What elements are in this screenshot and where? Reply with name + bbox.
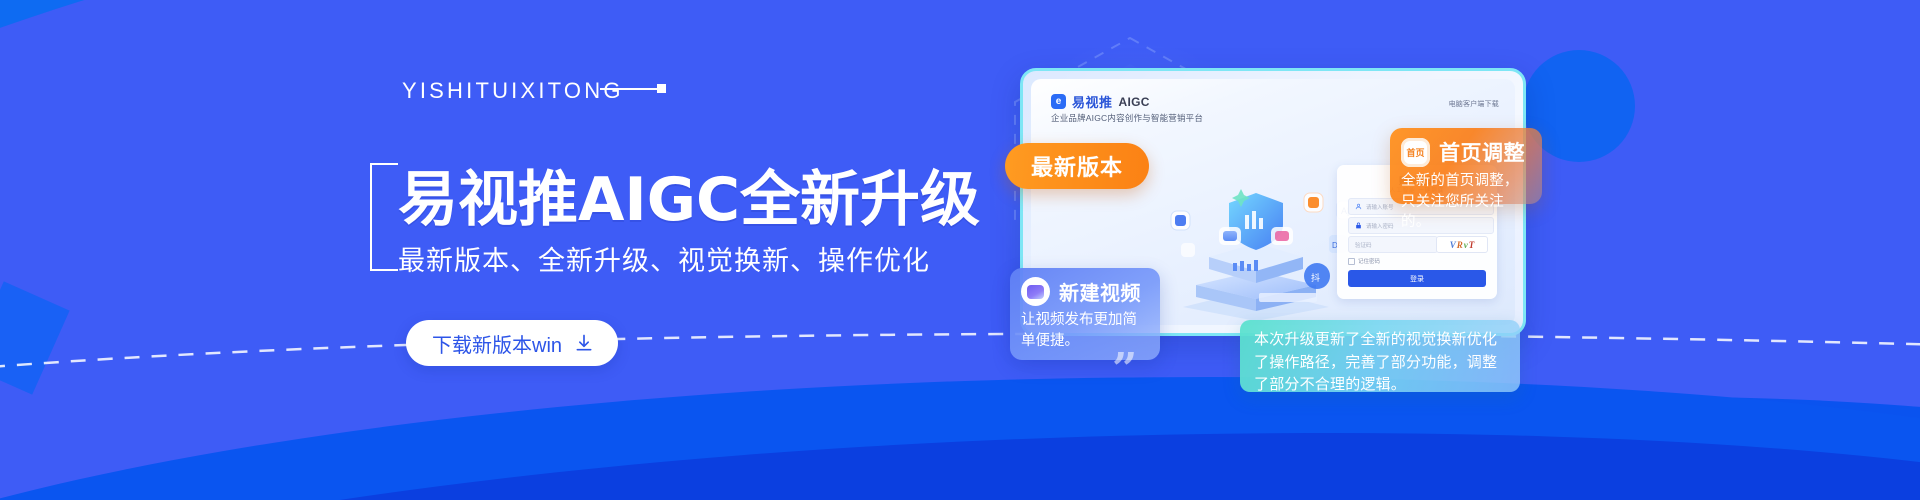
captcha-char-2: R — [1457, 240, 1463, 250]
new-video-icon — [1021, 277, 1050, 306]
login-submit-button[interactable]: 登录 — [1348, 270, 1486, 287]
feature-card-home-title: 首页调整 — [1439, 137, 1525, 167]
logo-mark-icon: e — [1051, 94, 1066, 109]
download-button[interactable]: 下载新版本win — [406, 320, 618, 366]
svg-text:抖: 抖 — [1311, 272, 1320, 283]
feature-card-video-header: 新建视频 — [1021, 277, 1149, 306]
home-page-icon-label: 首页 — [1406, 146, 1424, 159]
desktop-client-download-link[interactable]: 电脑客户端下载 — [1449, 99, 1499, 109]
feature-card-home-body: 全新的首页调整，只关注您所关注的。 — [1401, 171, 1530, 233]
checkbox-icon — [1348, 258, 1355, 265]
release-notes-card: 本次升级更新了全新的视觉换新优化了操作路径，完善了部分功能，调整了部分不合理的逻… — [1240, 320, 1520, 392]
feature-card-video-title: 新建视频 — [1059, 277, 1141, 306]
eyebrow-text: YISHITUIXITONG — [402, 78, 624, 104]
app-logo: e 易视推 AIGC — [1051, 92, 1150, 111]
page-title: 易视推AIGC全新升级 — [398, 168, 980, 233]
eyebrow-dot — [657, 84, 666, 93]
captcha-char-4: T — [1469, 240, 1475, 250]
captcha-char-3: v — [1464, 240, 1468, 250]
download-icon — [574, 333, 594, 353]
logo-text-en: AIGC — [1119, 95, 1150, 109]
subtitle: 最新版本、全新升级、视觉换新、操作优化 — [398, 239, 930, 278]
promo-banner: YISHITUIXITONG 易视推AIGC全新升级 最新版本、全新升级、视觉换… — [0, 0, 1920, 500]
captcha-placeholder: 验证码 — [1355, 241, 1372, 249]
eyebrow-rule — [600, 88, 660, 90]
new-video-icon-inner — [1027, 285, 1044, 299]
release-notes-body: 本次升级更新了全新的视觉换新优化了操作路径，完善了部分功能，调整了部分不合理的逻… — [1254, 329, 1506, 397]
account-placeholder: 请输入账号 — [1366, 203, 1394, 211]
captcha-image[interactable]: V R v T — [1436, 236, 1488, 253]
home-page-icon: 首页 — [1401, 138, 1430, 167]
user-icon — [1355, 203, 1362, 210]
quote-mark-icon: ” — [1112, 348, 1137, 392]
download-button-label: 下载新版本win — [432, 329, 562, 358]
feature-card-video: 新建视频 让视频发布更加简单便捷。 — [1010, 268, 1160, 360]
remember-password-checkbox[interactable]: 记住密码 — [1348, 257, 1380, 265]
new-version-badge-label: 最新版本 — [1031, 150, 1123, 182]
password-placeholder: 请输入密码 — [1366, 222, 1394, 230]
feature-card-home-header: 首页 首页调整 — [1401, 137, 1530, 167]
dashed-divider-line — [0, 315, 1920, 395]
bracket-decoration — [370, 163, 398, 271]
app-tagline: 企业品牌AIGC内容创作与智能营销平台 — [1051, 112, 1203, 124]
captcha-char-1: V — [1450, 240, 1456, 250]
logo-text-cn: 易视推 — [1072, 92, 1113, 111]
remember-password-label: 记住密码 — [1358, 257, 1380, 265]
feature-card-home: 首页 首页调整 全新的首页调整，只关注您所关注的。 — [1390, 128, 1542, 204]
captcha-field[interactable]: 验证码 — [1348, 236, 1438, 253]
new-version-badge: 最新版本 — [1005, 143, 1149, 189]
lock-icon — [1355, 222, 1362, 229]
